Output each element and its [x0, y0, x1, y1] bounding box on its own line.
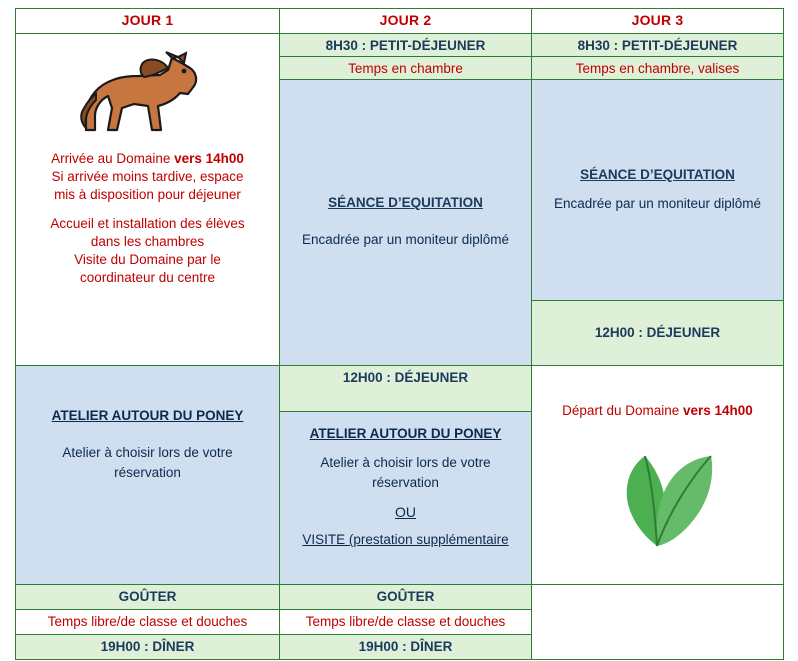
day1-workshop-title: ATELIER AUTOUR DU PONEY: [21, 408, 274, 423]
day1-welcome-line4: coordinateur du centre: [21, 269, 274, 287]
day2-dinner-label: 19H00 : DÎNER: [359, 639, 453, 654]
day3-riding-sub: Encadrée par un moniteur diplômé: [537, 194, 778, 214]
day1-arrival-paragraph: Arrivée au Domaine vers 14h00 Si arrivée…: [21, 150, 274, 203]
day1-arrival-line1-b: vers 14h00: [174, 151, 244, 166]
day2-riding-title: SÉANCE D’EQUITATION: [285, 195, 526, 210]
header-cell-day3: JOUR 3: [532, 9, 784, 34]
day1-welcome-line2: dans les chambres: [21, 233, 274, 251]
day2-gouter-cell: GOÛTER: [280, 585, 532, 610]
day3-departure-b: vers 14h00: [683, 403, 753, 418]
day2-workshop-line1: Atelier à choisir lors de votre: [285, 453, 526, 473]
day3-roomtime-cell: Temps en chambre, valises: [532, 57, 784, 80]
day2-workshop-title: ATELIER AUTOUR DU PONEY: [285, 426, 526, 441]
table-header-row: JOUR 1 JOUR 2 JOUR 3: [16, 9, 784, 34]
schedule-table: JOUR 1 JOUR 2 JOUR 3: [15, 8, 784, 660]
schedule-page: JOUR 1 JOUR 2 JOUR 3: [0, 8, 798, 661]
day2-lunch-cell: 12H00 : DÉJEUNER: [280, 366, 532, 412]
day1-gouter-cell: GOÛTER: [16, 585, 280, 610]
header-cell-day1: JOUR 1: [16, 9, 280, 34]
day1-workshop-cell: ATELIER AUTOUR DU PONEY Atelier à choisi…: [16, 366, 280, 585]
day2-workshop-line2: réservation: [285, 473, 526, 493]
day2-workshop-ou: OU: [285, 504, 526, 520]
day1-workshop-line2: réservation: [21, 463, 274, 483]
day3-roomtime-label: Temps en chambre, valises: [576, 61, 740, 76]
day2-lunch-label: 12H00 : DÉJEUNER: [343, 370, 468, 385]
day1-freetime-cell: Temps libre/de classe et douches: [16, 610, 280, 635]
day3-lunch-label: 12H00 : DÉJEUNER: [537, 325, 778, 340]
day2-riding-sub: Encadrée par un moniteur diplômé: [285, 230, 526, 250]
day2-riding-cell: SÉANCE D’EQUITATION Encadrée par un moni…: [280, 80, 532, 366]
day2-breakfast-cell: 8H30 : PETIT-DÉJEUNER: [280, 34, 532, 57]
header-cell-day2: JOUR 2: [280, 9, 532, 34]
day3-breakfast-label: 8H30 : PETIT-DÉJEUNER: [578, 38, 738, 53]
day2-header-label: JOUR 2: [380, 12, 432, 28]
day3-riding-cell: SÉANCE D’EQUITATION Encadrée par un moni…: [532, 80, 784, 301]
day3-header-label: JOUR 3: [632, 12, 684, 28]
day3-breakfast-cell: 8H30 : PETIT-DÉJEUNER: [532, 34, 784, 57]
gouter-row: GOÛTER GOÛTER: [16, 585, 784, 610]
leaf-icon: [537, 420, 778, 554]
day1-welcome-paragraph: Accueil et installation des élèves dans …: [21, 215, 274, 286]
day3-departure-text: Départ du Domaine vers 14h00: [537, 402, 778, 420]
day1-header-label: JOUR 1: [122, 12, 174, 28]
day1-dinner-label: 19H00 : DÎNER: [101, 639, 195, 654]
day1-arrival-line2: Si arrivée moins tardive, espace: [21, 168, 274, 186]
day3-lunch-cell: 12H00 : DÉJEUNER: [532, 300, 784, 365]
day3-departure-a: Départ du Domaine: [562, 403, 683, 418]
day2-dinner-cell: 19H00 : DÎNER: [280, 635, 532, 660]
day1-welcome-line1: Accueil et installation des élèves: [21, 215, 274, 233]
day1-arrival-line3: mis à disposition pour déjeuner: [21, 186, 274, 204]
horse-icon: [21, 44, 274, 138]
day1-dinner-cell: 19H00 : DÎNER: [16, 635, 280, 660]
day2-freetime-label: Temps libre/de classe et douches: [306, 614, 506, 629]
day2-breakfast-label: 8H30 : PETIT-DÉJEUNER: [326, 38, 486, 53]
day2-roomtime-cell: Temps en chambre: [280, 57, 532, 80]
breakfast-row: Arrivée au Domaine vers 14h00 Si arrivée…: [16, 34, 784, 57]
day2-freetime-cell: Temps libre/de classe et douches: [280, 610, 532, 635]
day3-departure-cell: Départ du Domaine vers 14h00: [532, 366, 784, 585]
day1-morning-cell: Arrivée au Domaine vers 14h00 Si arrivée…: [16, 34, 280, 366]
day2-workshop-visite: VISITE (prestation supplémentaire: [285, 532, 526, 547]
day3-riding-title: SÉANCE D’EQUITATION: [537, 167, 778, 182]
day1-welcome-line3: Visite du Domaine par le: [21, 251, 274, 269]
day1-workshop-line1: Atelier à choisir lors de votre: [21, 443, 274, 463]
day2-roomtime-label: Temps en chambre: [348, 61, 463, 76]
day2-workshop-cell: ATELIER AUTOUR DU PONEY Atelier à choisi…: [280, 412, 532, 585]
day1-freetime-label: Temps libre/de classe et douches: [48, 614, 248, 629]
day3-filler-cell: [532, 585, 784, 660]
day1-arrival-line1-a: Arrivée au Domaine: [51, 151, 174, 166]
lunch-departure-row: ATELIER AUTOUR DU PONEY Atelier à choisi…: [16, 366, 784, 412]
day2-gouter-label: GOÛTER: [377, 589, 435, 604]
day1-gouter-label: GOÛTER: [119, 589, 177, 604]
